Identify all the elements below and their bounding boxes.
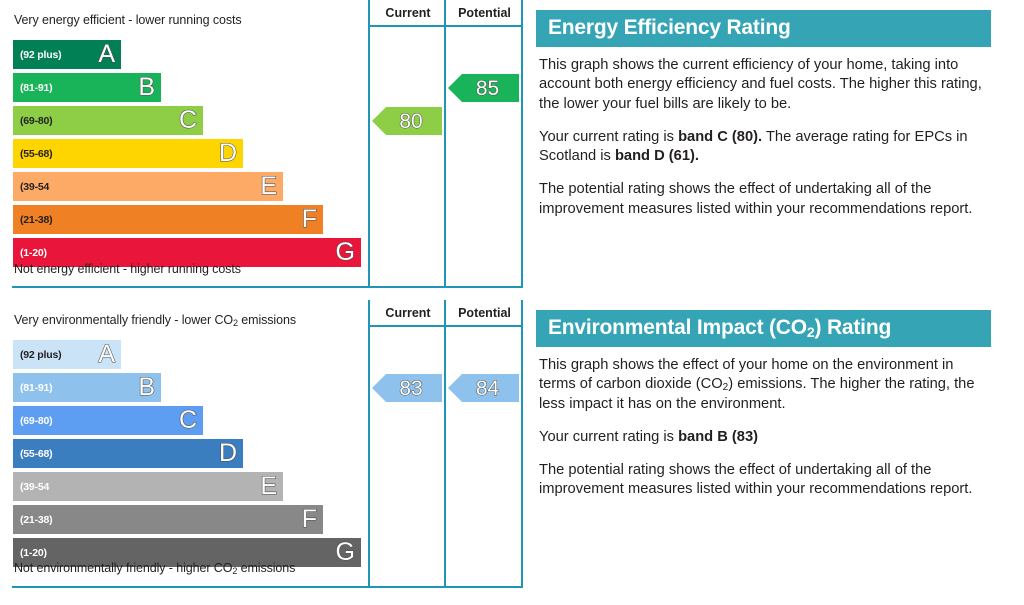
column-header-current: Current xyxy=(370,306,446,320)
energy-efficiency-panel: Energy Efficiency Rating This graph show… xyxy=(536,10,991,233)
band-row-e: (39-54E xyxy=(13,472,283,501)
panel-paragraph: Your current rating is band C (80). The … xyxy=(539,128,991,167)
energy-efficiency-chart: Very energy efficient - lower running co… xyxy=(0,0,524,290)
band-range-label: (1-20) xyxy=(13,547,47,559)
panel-paragraph: This graph shows the effect of your home… xyxy=(539,356,991,414)
chart-caption-top: Very environmentally friendly - lower CO… xyxy=(14,313,296,328)
band-letter: B xyxy=(138,75,155,100)
band-letter: E xyxy=(260,174,277,199)
band-range-label: (81-91) xyxy=(13,382,52,394)
band-letter: B xyxy=(138,375,155,400)
band-row-f: (21-38)F xyxy=(13,205,323,234)
band-row-d: (55-68)D xyxy=(13,139,243,168)
current-rating-arrow: 80 xyxy=(372,107,442,135)
band-range-label: (21-38) xyxy=(13,514,52,526)
potential-rating-arrow: 84 xyxy=(448,374,519,402)
band-row-c: (69-80)C xyxy=(13,406,203,435)
band-row-a: (92 plus)A xyxy=(13,340,121,369)
panel-body: This graph shows the current efficiency … xyxy=(536,47,991,219)
band-letter: G xyxy=(336,240,355,265)
band-letter: D xyxy=(219,441,237,466)
band-letter: C xyxy=(179,408,197,433)
band-row-a: (92 plus)A xyxy=(13,40,121,69)
band-row-b: (81-91)B xyxy=(13,73,161,102)
column-header-rule xyxy=(368,25,523,27)
chart-baseline xyxy=(12,586,523,588)
band-row-b: (81-91)B xyxy=(13,373,161,402)
column-header-potential: Potential xyxy=(446,306,523,320)
chart-caption-bottom: Not environmentally friendly - higher CO… xyxy=(14,561,295,576)
current-rating-value: 80 xyxy=(387,111,426,132)
band-range-label: (69-80) xyxy=(13,415,52,427)
environmental-impact-panel: Environmental Impact (CO2) Rating This g… xyxy=(536,310,991,514)
band-list: (92 plus)A(81-91)B(69-80)C(55-68)D(39-54… xyxy=(0,340,370,571)
band-range-label: (92 plus) xyxy=(13,349,61,361)
band-range-label: (92 plus) xyxy=(13,49,61,61)
column-header-current: Current xyxy=(370,6,446,20)
band-range-label: (21-38) xyxy=(13,214,52,226)
band-letter: F xyxy=(302,507,317,532)
band-row-f: (21-38)F xyxy=(13,505,323,534)
panel-paragraph: Your current rating is band B (83) xyxy=(539,428,991,447)
band-row-d: (55-68)D xyxy=(13,439,243,468)
band-range-label: (39-54 xyxy=(13,481,49,493)
band-range-label: (39-54 xyxy=(13,181,49,193)
band-range-label: (81-91) xyxy=(13,82,52,94)
panel-title: Energy Efficiency Rating xyxy=(536,10,991,47)
band-list: (92 plus)A(81-91)B(69-80)C(55-68)D(39-54… xyxy=(0,40,370,271)
band-letter: A xyxy=(98,342,115,367)
chart-caption-top: Very energy efficient - lower running co… xyxy=(14,13,242,27)
band-range-label: (1-20) xyxy=(13,247,47,259)
band-row-e: (39-54E xyxy=(13,172,283,201)
panel-paragraph: This graph shows the current efficiency … xyxy=(539,56,991,114)
potential-rating-value: 85 xyxy=(464,78,503,99)
band-range-label: (55-68) xyxy=(13,148,52,160)
panel-paragraph: The potential rating shows the effect of… xyxy=(539,180,991,219)
column-header-potential: Potential xyxy=(446,6,523,20)
potential-rating-value: 84 xyxy=(464,378,503,399)
band-letter: G xyxy=(336,540,355,565)
panel-title: Environmental Impact (CO2) Rating xyxy=(536,310,991,347)
panel-title-subscript: 2 xyxy=(807,324,815,340)
panel-body: This graph shows the effect of your home… xyxy=(536,347,991,500)
panel-title-prefix: Environmental Impact (CO xyxy=(548,316,807,339)
column-divider-potential xyxy=(444,300,446,588)
chart-baseline xyxy=(12,286,523,288)
column-divider-current xyxy=(368,0,370,288)
band-letter: A xyxy=(98,42,115,67)
column-header-rule xyxy=(368,325,523,327)
current-rating-value: 83 xyxy=(387,378,426,399)
chart-caption-bottom: Not energy efficient - higher running co… xyxy=(14,262,241,276)
column-divider-current xyxy=(368,300,370,588)
panel-title-suffix: ) Rating xyxy=(815,316,892,339)
panel-paragraph: The potential rating shows the effect of… xyxy=(539,461,991,500)
column-divider-end xyxy=(521,0,523,288)
band-range-label: (55-68) xyxy=(13,448,52,460)
band-letter: E xyxy=(260,474,277,499)
column-divider-end xyxy=(521,300,523,588)
column-divider-potential xyxy=(444,0,446,288)
band-range-label: (69-80) xyxy=(13,115,52,127)
environmental-impact-chart: Very environmentally friendly - lower CO… xyxy=(0,300,524,590)
band-letter: C xyxy=(179,108,197,133)
band-letter: F xyxy=(302,207,317,232)
band-row-c: (69-80)C xyxy=(13,106,203,135)
current-rating-arrow: 83 xyxy=(372,374,442,402)
potential-rating-arrow: 85 xyxy=(448,74,519,102)
epc-rating-page: Very energy efficient - lower running co… xyxy=(0,0,1024,605)
band-letter: D xyxy=(219,141,237,166)
